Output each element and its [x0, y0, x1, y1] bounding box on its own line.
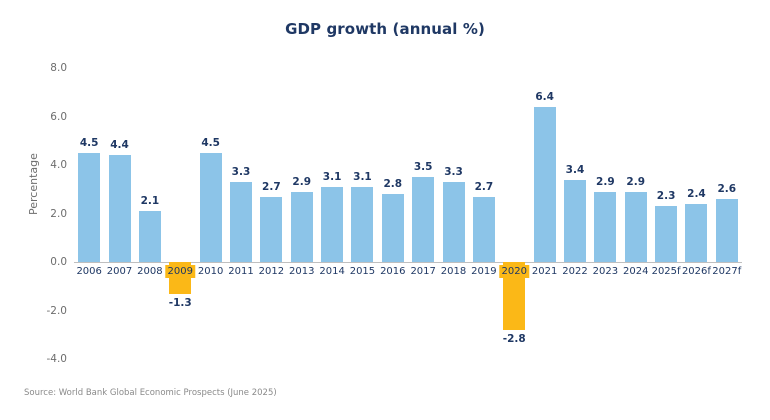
- y-tick-label: 2.0: [21, 208, 67, 220]
- x-tick-label: 2027f: [710, 265, 743, 278]
- bar-group[interactable]: 3.42022: [560, 60, 590, 365]
- bar[interactable]: [443, 182, 465, 262]
- chart-title: GDP growth (annual %): [0, 20, 770, 38]
- bar-group[interactable]: 2.92024: [621, 60, 651, 365]
- bar[interactable]: [78, 153, 100, 262]
- bar-value-label: 4.5: [80, 137, 99, 149]
- bar-group[interactable]: 2.72019: [469, 60, 499, 365]
- x-tick-label: 2007: [105, 265, 134, 278]
- x-tick-label: 2019: [469, 265, 498, 278]
- bar-value-label: 3.1: [323, 171, 342, 183]
- bar-value-label: 2.4: [687, 188, 706, 200]
- x-tick-label: 2009: [166, 265, 195, 278]
- bar[interactable]: [291, 192, 313, 262]
- bar[interactable]: [473, 197, 495, 262]
- x-tick-label: 2013: [287, 265, 316, 278]
- x-tick-label: 2020: [500, 265, 529, 278]
- x-tick-label: 2015: [348, 265, 377, 278]
- bar-group[interactable]: 2.92013: [287, 60, 317, 365]
- bar[interactable]: [534, 107, 556, 262]
- bar-value-label: 2.7: [475, 181, 494, 193]
- y-tick-label: 0.0: [21, 256, 67, 268]
- bar-value-label: 3.1: [353, 171, 372, 183]
- source-note: Source: World Bank Global Economic Prosp…: [24, 388, 277, 398]
- y-tick-label: -2.0: [21, 305, 67, 317]
- bar-value-label: 3.4: [566, 164, 585, 176]
- bar-group[interactable]: -2.82020: [499, 60, 529, 365]
- bar-group[interactable]: 2.82016: [378, 60, 408, 365]
- x-tick-label: 2008: [135, 265, 164, 278]
- x-tick-label: 2012: [257, 265, 286, 278]
- x-tick-label: 2018: [439, 265, 468, 278]
- bar[interactable]: [564, 180, 586, 262]
- y-tick-label: 4.0: [21, 159, 67, 171]
- bar[interactable]: [412, 177, 434, 262]
- bar[interactable]: [260, 197, 282, 262]
- bar-value-label: 3.5: [414, 161, 433, 173]
- x-tick-label: 2025f: [650, 265, 683, 278]
- x-tick-label: 2022: [560, 265, 589, 278]
- bar-group[interactable]: 4.52006: [74, 60, 104, 365]
- bar-group[interactable]: 2.42026f: [681, 60, 711, 365]
- bar-group[interactable]: 2.12008: [135, 60, 165, 365]
- bar-value-label: 3.3: [232, 166, 251, 178]
- x-tick-label: 2006: [74, 265, 103, 278]
- bar-group[interactable]: 3.52017: [408, 60, 438, 365]
- bar-value-label: -1.3: [169, 297, 192, 309]
- x-tick-label: 2021: [530, 265, 559, 278]
- bar[interactable]: [655, 206, 677, 262]
- plot-area: 8.06.04.02.00.0-2.0-4.0 4.520064.420072.…: [74, 60, 742, 365]
- y-tick-label: 6.0: [21, 111, 67, 123]
- bar[interactable]: [139, 211, 161, 262]
- bar-group[interactable]: 2.32025f: [651, 60, 681, 365]
- bar[interactable]: [685, 204, 707, 262]
- bar[interactable]: [382, 194, 404, 262]
- x-tick-label: 2017: [408, 265, 437, 278]
- bar-group[interactable]: 3.12014: [317, 60, 347, 365]
- bar[interactable]: [321, 187, 343, 262]
- bar-value-label: 2.9: [292, 176, 311, 188]
- bar[interactable]: [351, 187, 373, 262]
- bar-value-label: 4.4: [110, 139, 129, 151]
- bar-value-label: 2.9: [626, 176, 645, 188]
- bar-group[interactable]: 2.72012: [256, 60, 286, 365]
- bar-group[interactable]: 6.42021: [529, 60, 559, 365]
- x-tick-label: 2014: [317, 265, 346, 278]
- y-tick-label: 8.0: [21, 62, 67, 74]
- bar-group[interactable]: 3.32018: [438, 60, 468, 365]
- bar-group[interactable]: 4.42007: [104, 60, 134, 365]
- bar-group[interactable]: 2.92023: [590, 60, 620, 365]
- bar-value-label: 4.5: [201, 137, 220, 149]
- bar[interactable]: [625, 192, 647, 262]
- bar[interactable]: [200, 153, 222, 262]
- bar-value-label: 6.4: [535, 91, 554, 103]
- x-tick-label: 2016: [378, 265, 407, 278]
- x-tick-label: 2023: [591, 265, 620, 278]
- bar-value-label: 2.6: [717, 183, 736, 195]
- gdp-growth-chart: GDP growth (annual %) Percentage 8.06.04…: [0, 0, 770, 420]
- bar[interactable]: [230, 182, 252, 262]
- bar[interactable]: [594, 192, 616, 262]
- bar-group[interactable]: 3.12015: [347, 60, 377, 365]
- bar-group[interactable]: -1.32009: [165, 60, 195, 365]
- y-tick-label: -4.0: [21, 353, 67, 365]
- bar-group[interactable]: 4.52010: [195, 60, 225, 365]
- x-tick-label: 2026f: [680, 265, 713, 278]
- bar-value-label: 2.7: [262, 181, 281, 193]
- bar-group[interactable]: 3.32011: [226, 60, 256, 365]
- bar[interactable]: [109, 155, 131, 262]
- bar-value-label: 2.1: [141, 195, 160, 207]
- x-tick-label: 2024: [621, 265, 650, 278]
- bar-value-label: -2.8: [503, 333, 526, 345]
- bar[interactable]: [716, 199, 738, 262]
- bar-group[interactable]: 2.62027f: [712, 60, 742, 365]
- bar-value-label: 2.3: [657, 190, 676, 202]
- x-tick-label: 2011: [226, 265, 255, 278]
- bar-value-label: 3.3: [444, 166, 463, 178]
- x-tick-label: 2010: [196, 265, 225, 278]
- bar-value-label: 2.9: [596, 176, 615, 188]
- bar-value-label: 2.8: [383, 178, 402, 190]
